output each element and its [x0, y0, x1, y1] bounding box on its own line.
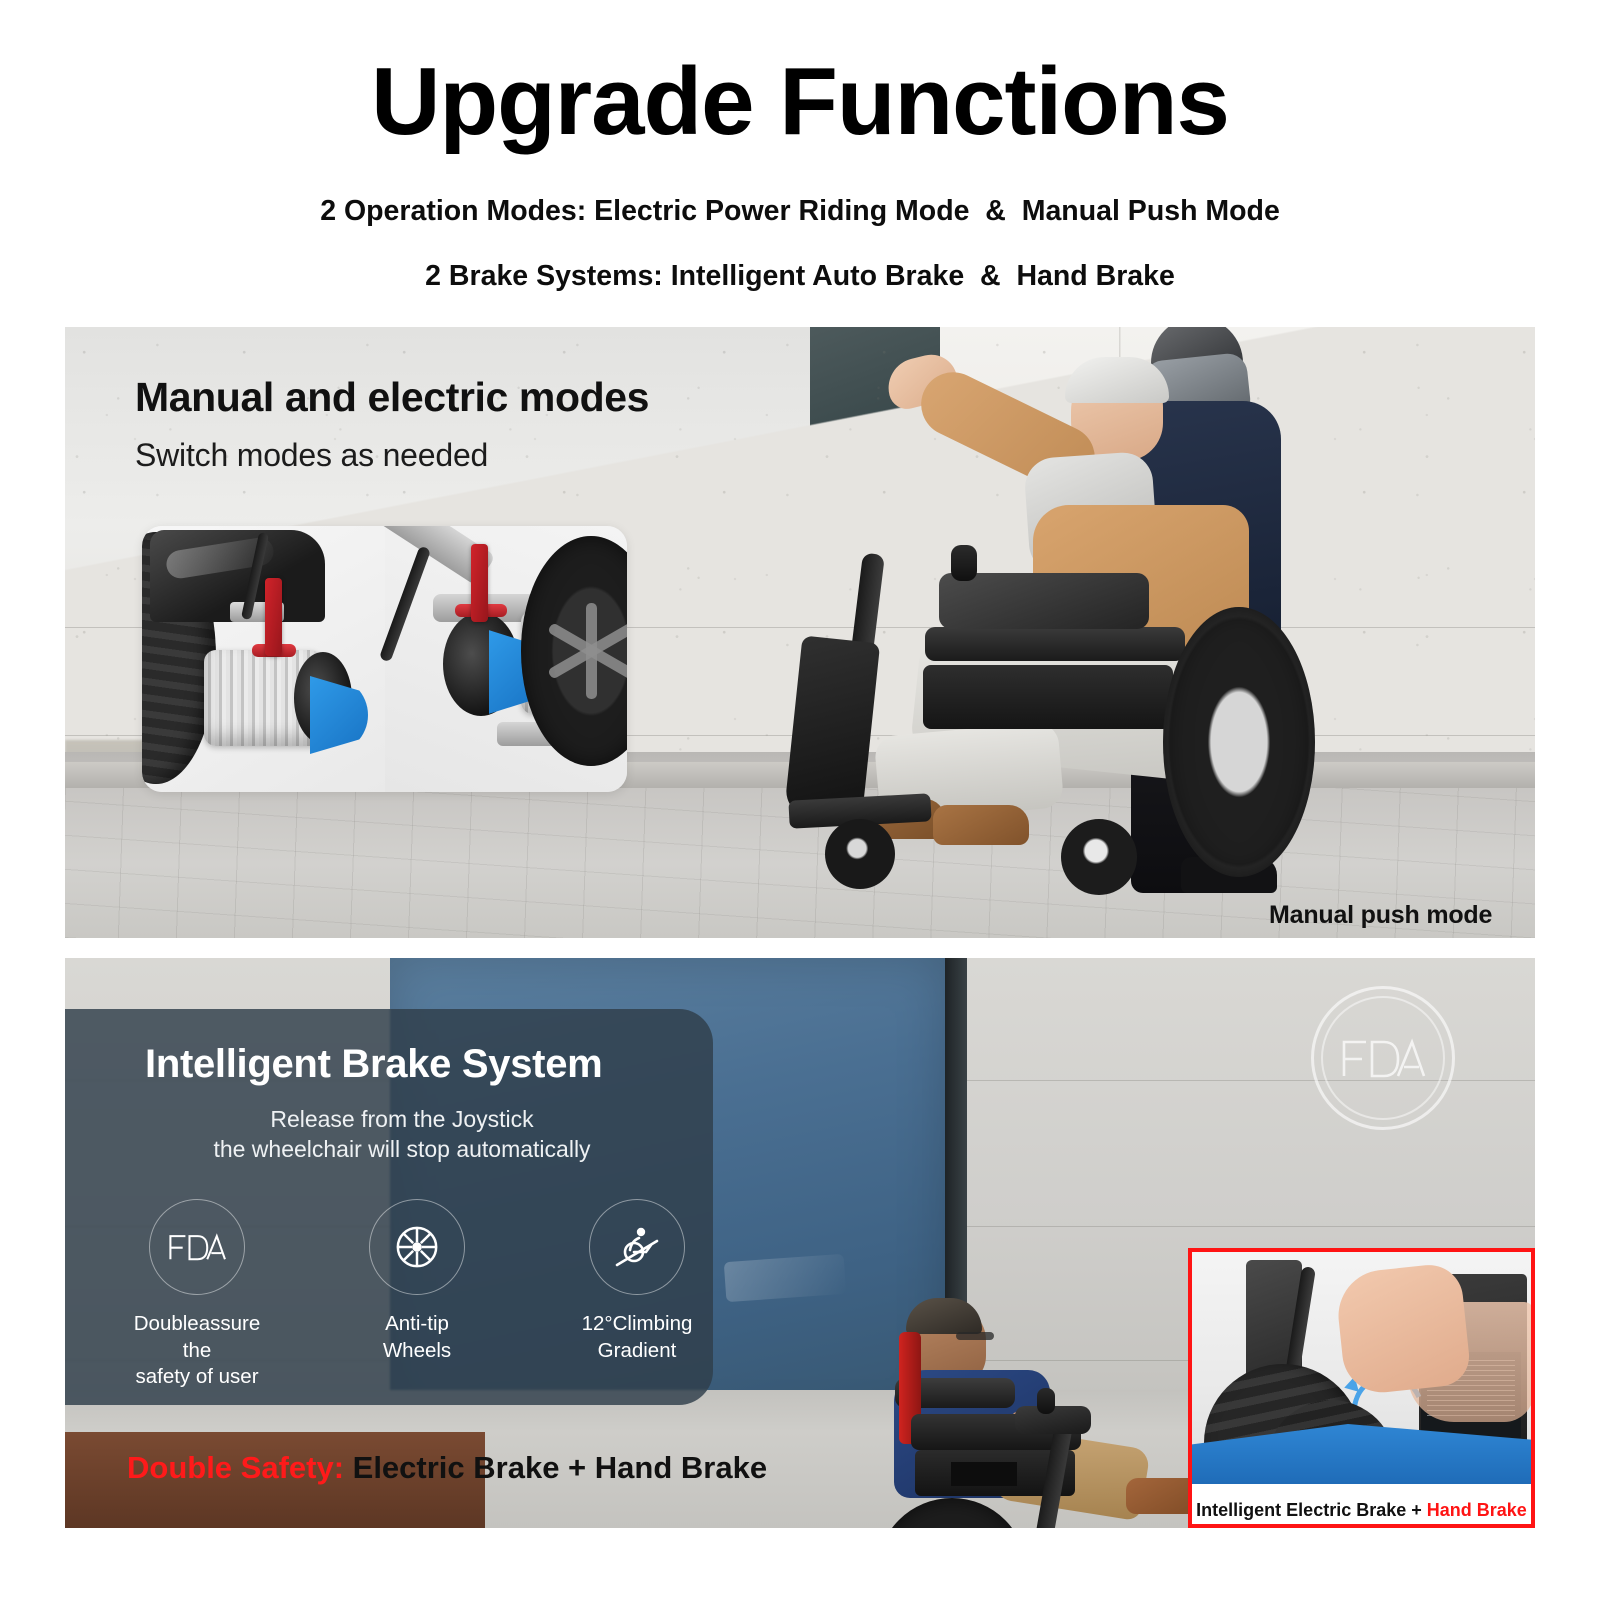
double-safety-rest: Electric Brake + Hand Brake: [344, 1450, 767, 1485]
feature-list: Doubleassure the safety of user Anti-tip…: [121, 1199, 713, 1391]
wheelchair-joystick: [951, 545, 977, 581]
clutch-lever-right: [471, 544, 488, 622]
brake-user-hair: [906, 1298, 982, 1334]
fda-watermark-icon: [1311, 986, 1455, 1130]
feature-label-fda: Doubleassure the safety of user: [121, 1311, 273, 1391]
cable-right-view: [378, 546, 430, 663]
wheelchair-caster-wheel: [1061, 819, 1137, 895]
wc2-battery-label: [951, 1462, 1017, 1486]
feature-label-antitip: Anti-tip Wheels: [341, 1311, 493, 1364]
wheelchair-seat: [925, 627, 1185, 661]
operation-modes-subline: 2 Operation Modes: Electric Power Riding…: [0, 153, 1600, 226]
wheelchair-armrest: [939, 573, 1149, 629]
wheelchair-footrest-panel: [784, 635, 880, 822]
manual-push-mode-label: Manual push mode: [1269, 901, 1492, 930]
wheelchair-front-caster: [825, 819, 895, 889]
hand-brake-photo: [1192, 1252, 1531, 1484]
motor-clutch-inset: [142, 526, 627, 792]
brake-info-card: Intelligent Brake System Release from th…: [65, 1009, 713, 1405]
wheelchair-electric: [765, 547, 1325, 937]
inset-hand-gripping: [1334, 1262, 1472, 1397]
wheelchair-ramp-glyph-icon: [613, 1225, 661, 1269]
window-reflection: [724, 1254, 846, 1302]
wheelchair-battery: [923, 665, 1173, 729]
clutch-lever-left: [265, 578, 282, 656]
wheel-spokes-icon: [369, 1199, 465, 1295]
feature-item-climbing: 12°Climbing Gradient: [561, 1199, 713, 1391]
fda-letters-icon: [167, 1232, 227, 1262]
feature-item-antitip: Anti-tip Wheels: [341, 1199, 493, 1391]
wc2-joystick: [1037, 1388, 1055, 1414]
motor-view-left: [142, 526, 385, 792]
wheelchair-rear-wheel: [1163, 607, 1315, 877]
brake-card-subtitle: Release from the Joystick the wheelchair…: [65, 1104, 713, 1165]
panel-intelligent-brake-system: Intelligent Brake System Release from th…: [65, 958, 1535, 1528]
user-hair: [1065, 357, 1169, 403]
hand-brake-inset: Intelligent Electric Brake + Hand Brake: [1188, 1248, 1535, 1528]
brake-user-glasses: [956, 1332, 994, 1340]
panel-manual-heading: Manual and electric modes: [135, 374, 649, 421]
panel-manual-subheading: Switch modes as needed: [135, 437, 488, 474]
feature-label-climbing: 12°Climbing Gradient: [561, 1311, 713, 1364]
brake-card-sub-line-2: the wheelchair will stop automatically: [91, 1134, 713, 1164]
brake-card-title: Intelligent Brake System: [145, 1042, 602, 1087]
inset-caption-red: Hand Brake: [1427, 1500, 1527, 1520]
motor-view-right: [385, 526, 628, 792]
double-safety-footer: Double Safety: Electric Brake + Hand Bra…: [127, 1450, 767, 1486]
inset-caption-black: Intelligent Electric Brake +: [1196, 1500, 1427, 1520]
feature-item-fda: Doubleassure the safety of user: [121, 1199, 273, 1391]
blue-arrow-left: [310, 676, 368, 754]
wheelchair-brake-demo: [855, 1388, 1235, 1528]
brake-card-sub-line-1: Release from the Joystick: [91, 1104, 713, 1134]
fda-icon: [149, 1199, 245, 1295]
double-safety-highlight: Double Safety:: [127, 1450, 344, 1485]
wheelchair-ramp-icon: [589, 1199, 685, 1295]
panel-manual-electric-modes: Manual and electric modes Switch modes a…: [65, 327, 1535, 938]
wc2-rear-wheel: [877, 1498, 1027, 1528]
wheel-glyph-icon: [394, 1224, 440, 1270]
page-title: Upgrade Functions: [0, 0, 1600, 153]
fda-letters-icon: [1340, 1036, 1426, 1080]
brake-systems-subline: 2 Brake Systems: Intelligent Auto Brake …: [0, 225, 1600, 291]
page-header: Upgrade Functions 2 Operation Modes: Ele…: [0, 0, 1600, 291]
hand-brake-inset-caption: Intelligent Electric Brake + Hand Brake: [1192, 1500, 1531, 1521]
